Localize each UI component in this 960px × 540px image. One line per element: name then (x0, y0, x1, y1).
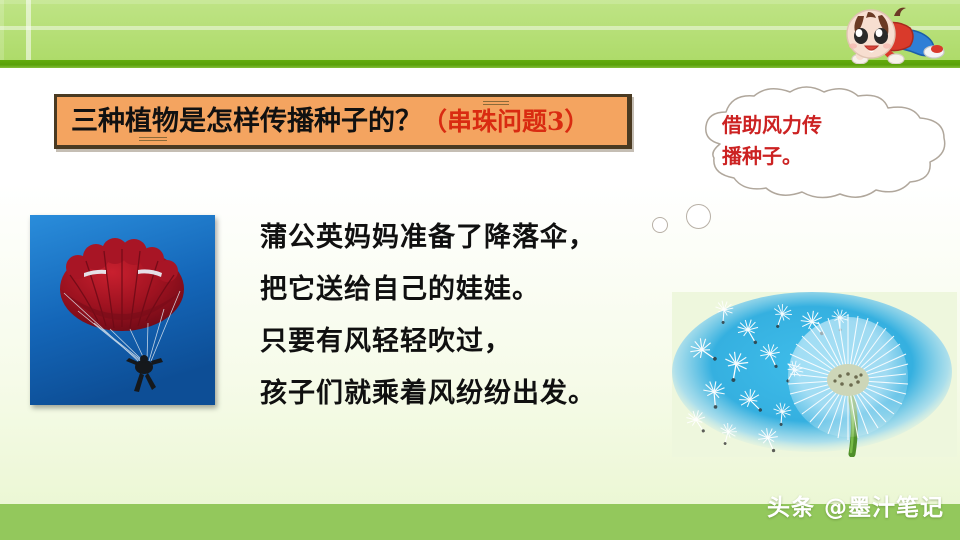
cartoon-baby-icon (838, 4, 948, 64)
page-title: 三种植物是怎样传播种子的？ (71, 106, 422, 137)
slide-canvas: 三种植物是怎样传播种子的？（串珠问题3） 借助风力传 播种子。 (0, 0, 960, 540)
poem-line: 孩子们就乘着风纷纷出发。 (260, 368, 680, 420)
poem-line: 只要有风轻轻吹过， (260, 316, 680, 368)
thought-bubble-line-1: 借助风力传 (722, 110, 907, 141)
thought-bubble-trail-large (686, 204, 711, 229)
poem-line: 蒲公英妈妈准备了降落伞， (260, 212, 680, 264)
dandelion-photo (672, 292, 957, 457)
page-title-subnote: （串珠问题3） (422, 107, 589, 136)
poem-line: 把它送给自己的娃娃。 (260, 264, 680, 316)
watermark-label: 头条 @墨汁笔记 (767, 488, 944, 522)
header-band (0, 0, 960, 60)
title-banner: 三种植物是怎样传播种子的？（串珠问题3） (54, 94, 632, 149)
parachute-photo (30, 215, 215, 405)
title-text-wrap: 三种植物是怎样传播种子的？（串珠问题3） (71, 108, 589, 135)
thought-bubble-text: 借助风力传 播种子。 (722, 110, 907, 172)
header-divider-rule (0, 60, 960, 68)
poem-block: 蒲公英妈妈准备了降落伞， 把它送给自己的娃娃。 只要有风轻轻吹过， 孩子们就乘着… (260, 212, 680, 420)
thought-bubble-line-2: 播种子。 (722, 141, 907, 172)
thought-bubble: 借助风力传 播种子。 (648, 84, 960, 216)
